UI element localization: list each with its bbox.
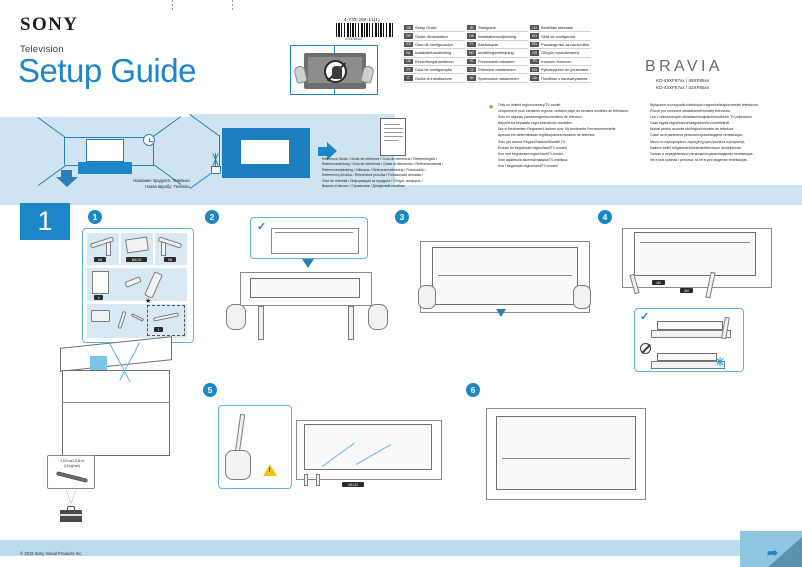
language-row-tr[interactable]: TRKurulum Kılavuzu [530, 58, 591, 66]
torque-spec-bubble: 1.5 N·m/1.5 N·m (15 kgf·cm) [47, 455, 95, 489]
language-column-2: SEStartguideDKInstallationsvejledningFIA… [467, 24, 528, 83]
language-title: Asetusopas [478, 42, 498, 47]
batteries-icon [124, 276, 141, 288]
language-title: Innstillingsveiledning [478, 50, 514, 55]
language-code-badge: DK [467, 33, 476, 38]
language-title: Οδηγός εγκατάστασης [541, 50, 580, 55]
torque-line-2: (15 kgf·cm) [48, 464, 96, 469]
language-code-badge: ES [404, 42, 413, 47]
substep-2-check-panel: ✓ [250, 217, 368, 259]
language-title: Installationsvejledning [478, 34, 516, 39]
footnote-column-left: Only on limited region/country/TV model.… [498, 102, 629, 169]
footnote-right-line-6: Само за ограничени региони/страни/модели… [650, 132, 759, 138]
down-arrow-icon [56, 177, 78, 187]
language-code-badge: RU [530, 67, 539, 72]
substep-5-illustration: M4 L12 [296, 420, 444, 496]
manual-booklet-icon [92, 271, 109, 294]
bravia-logo: BRAVIA [645, 58, 723, 76]
language-row-ru[interactable]: RUРуководство по установке [530, 66, 591, 74]
power-cord-icon [117, 311, 126, 329]
language-index: GBSetup GuideFRGuide d'installationESGuí… [404, 24, 594, 83]
language-title: Guida di installazione [415, 76, 452, 81]
tv-illustration-a [86, 139, 124, 162]
language-code-badge: UA [530, 75, 539, 80]
footer-white-strip [14, 522, 788, 542]
screw-left-5 [304, 474, 308, 486]
tv-face-down-3 [432, 247, 578, 305]
language-row-gr[interactable]: GRΟδηγός εγκατάστασης [530, 49, 591, 57]
tv-on-table [250, 278, 360, 298]
product-name-labels: Название продукта: Телевизор Назва вироб… [100, 178, 192, 191]
substep-2-badge: 2 [205, 210, 219, 224]
language-code-badge: SE [467, 25, 476, 30]
accessory-cell-manual-remote: 4 [87, 268, 187, 301]
crop-mark-left [172, 0, 173, 12]
substep-6-illustration [486, 408, 648, 512]
accessory-cell-cables: 1 [87, 304, 187, 338]
prohibited-icon-4 [640, 343, 651, 354]
footnote-star-icon: ★ [488, 103, 494, 111]
language-code-badge: HU [530, 25, 539, 30]
substep-3-badge: 3 [395, 210, 409, 224]
substep-4-correct-wrong-panel: ✓ ✳ [634, 308, 744, 372]
language-title: Guide d'installation [415, 34, 448, 39]
language-title: Przewodnik ustawień [478, 59, 515, 64]
room-scene-tv-on-stand [38, 117, 181, 185]
language-column-3: HUBeállítási útmutatóROGhid de configura… [530, 24, 591, 83]
hand-right-icon [360, 65, 375, 84]
barcode-icon [336, 23, 394, 37]
language-row-pl[interactable]: PLPrzewodnik ustawień [467, 58, 528, 66]
cable-tie-icon [131, 313, 144, 321]
language-code-badge: GR [530, 50, 539, 55]
tv-rear-panel [634, 232, 756, 276]
language-title: Руководство по установке [541, 67, 588, 72]
table-edge-wrong [651, 361, 725, 369]
language-row-it[interactable]: ITGuida di installazione [404, 74, 465, 82]
tv-screen-illustration [240, 139, 290, 165]
accessory-tag-m4l12: M4 L12 [126, 257, 147, 262]
cable-clamp-icon [153, 312, 179, 321]
language-code-badge: DE [404, 59, 413, 64]
ac-adapter-icon [91, 310, 110, 322]
accessory-cell-screws: M4 L12 [121, 233, 153, 265]
language-row-hu[interactable]: HUBeállítási útmutató [530, 24, 591, 32]
accessory-tag-m4-a: M4 [94, 257, 106, 262]
torque-spec-text: 1.5 N·m/1.5 N·m (15 kgf·cm) [48, 459, 96, 468]
check-icon: ✓ [257, 220, 266, 233]
language-code-badge: FR [404, 33, 413, 38]
next-page-arrow-icon[interactable]: ➦ [767, 545, 778, 561]
language-row-no[interactable]: NOInnstillingsveiledning [467, 49, 528, 57]
language-row-gb[interactable]: GBSetup Guide [404, 24, 465, 32]
footnote-left-line-11: Kun i begrenset region/land/TV-modell. [498, 163, 629, 169]
language-title: Ръководство за настройка [541, 42, 589, 47]
screwdriver-icon [56, 471, 88, 483]
language-row-cz[interactable]: CZPrůvodce nastavením [467, 66, 528, 74]
model-line-1: KD-49XF87xx / 49XF85xx [656, 77, 709, 84]
do-not-touch-screen-illustration [290, 45, 378, 95]
substep-5-screwdriver-panel [218, 405, 292, 489]
language-code-badge: PL [467, 59, 476, 64]
language-title: Kurulum Kılavuzu [541, 59, 572, 64]
barcode-number: 4733266111 [345, 37, 362, 41]
accessory-tag-m4-b: M4 [164, 257, 176, 262]
substep-6-badge: 6 [466, 383, 480, 397]
footnote-right-line-7: Μόνο σε περιορισμένες περιοχές/χώρες/μον… [650, 139, 759, 145]
screw-right-5 [316, 474, 320, 486]
stand-foot-part-2 [161, 242, 166, 256]
accessory-cell-stand-left: M4 [87, 233, 119, 265]
substep-2-table-illustration [222, 268, 392, 346]
language-title: Guía de configuración [415, 42, 453, 47]
language-row-ua[interactable]: UAПосібник з налаштування [530, 74, 591, 82]
sony-logo: SONY [20, 14, 78, 36]
tv-front-6 [496, 416, 636, 490]
hand-support-right [573, 285, 591, 309]
bubble-tail [66, 489, 76, 503]
crop-mark-right [232, 0, 233, 12]
language-row-dk[interactable]: DKInstallationsvejledning [467, 32, 528, 40]
language-code-badge: NO [467, 50, 476, 55]
footnote-column-right: Wyłącznie w przypadku niektórych regionó… [650, 102, 759, 163]
language-title: Einrichtungshandbuch [415, 59, 454, 64]
language-code-badge: PT [404, 67, 413, 72]
footer-white-gap [0, 556, 740, 567]
language-code-badge: BG [530, 42, 539, 47]
language-title: Beállítási útmutató [541, 25, 573, 30]
language-code-badge: CZ [467, 67, 476, 72]
optional-star-icon: ★ [145, 297, 151, 305]
language-row-nl[interactable]: NLInstallatiehandleiding [404, 49, 465, 57]
language-row-ro[interactable]: ROGhid de configurare [530, 32, 591, 40]
language-column-1: GBSetup GuideFRGuide d'installationESGuí… [404, 24, 465, 83]
optional-accessory-box: 1 [147, 305, 185, 336]
table-edge-correct [651, 330, 731, 338]
substep-4-illustration: M4 M4 [622, 220, 774, 306]
language-code-badge: RO [530, 33, 539, 38]
accessory-cell-stand-right: M4 [155, 233, 187, 265]
substep-3-illustration [418, 225, 593, 345]
hand-right-grip [368, 304, 388, 330]
sony-wordmark: SONY [20, 14, 78, 35]
down-arrow-substep-2 [302, 259, 314, 268]
language-row-se[interactable]: SEStartguide [467, 24, 528, 32]
table-leg-right [348, 306, 354, 340]
language-title: Посібник з налаштування [541, 76, 587, 81]
substep-4-badge: 4 [598, 210, 612, 224]
language-row-fi[interactable]: FIAsetusopas [467, 41, 528, 49]
footnote-right-line-10: Не в усіх країнах і регіонах та не в усі… [650, 157, 759, 163]
product-name-ua: Назва виробу: Телевізор [100, 184, 192, 190]
remote-control-icon [144, 271, 163, 298]
language-code-badge: SK [467, 75, 476, 80]
language-title: Průvodce nastavením [478, 67, 516, 72]
language-row-pt[interactable]: PTGuia de configuração [404, 66, 465, 74]
fastener-tag-step5: M4 L12 [342, 482, 364, 487]
accessories-panel: M4 M4 L12 M4 4 1 ★ [82, 228, 194, 343]
fastener-tag-step4-right: M4 [680, 288, 693, 293]
section-number-1: 1 [20, 203, 70, 240]
model-line-2: KD-43XF87xx / 43XF85xx [656, 84, 709, 91]
rotate-arrow-3 [496, 309, 506, 317]
correct-placement-illustration [657, 321, 723, 330]
reference-guide-line-6: Başvuru Kılavuzu / Справочник / Довідков… [322, 184, 443, 189]
screw-bag [125, 237, 149, 254]
language-code-badge: NL [404, 50, 413, 55]
setup-guide-page: SONY Television Setup Guide 4-733-266-11… [0, 0, 802, 567]
no-touch-icon [324, 60, 347, 83]
impact-burst-icon: ✳ [715, 355, 725, 369]
substep-5-badge: 5 [203, 383, 217, 397]
hand-support-left [418, 285, 436, 309]
clock-icon [143, 134, 155, 146]
language-title: Startguide [478, 25, 496, 30]
page-turn-corner: ➦ [740, 531, 802, 567]
language-row-de[interactable]: DEEinrichtungshandbuch [404, 58, 465, 66]
language-row-bg[interactable]: BGРъководство за настройка [530, 41, 591, 49]
hand-holding-screwdriver [225, 450, 251, 480]
check-icon-4: ✓ [640, 310, 649, 323]
language-row-es[interactable]: ESGuía de configuración [404, 41, 465, 49]
accessory-tag-qty-1: 1 [154, 327, 163, 332]
language-code-badge: TR [530, 59, 539, 64]
hand-left-grip [226, 304, 246, 330]
tv-rear-5 [304, 424, 432, 470]
language-code-badge: IT [404, 75, 413, 80]
table-leg-left [258, 306, 264, 340]
wrong-placement-illustration [657, 353, 717, 361]
model-numbers: KD-49XF87xx / 49XF85xx KD-43XF87xx / 43X… [656, 77, 709, 91]
language-code-badge: FI [467, 42, 476, 47]
language-title: Ghid de configurare [541, 34, 575, 39]
caution-triangle-icon [263, 464, 277, 476]
language-row-sk[interactable]: SKSprievodca nastavením [467, 74, 528, 82]
reference-guide-languages: Reference Guide / Guide de référence / G… [322, 157, 443, 189]
tv-stand-illustration [78, 162, 132, 174]
substep-1-badge: 1 [88, 210, 102, 224]
language-title: Setup Guide [415, 25, 437, 30]
toolbox-icon [60, 506, 82, 523]
language-code-badge: GB [404, 25, 413, 30]
document-number: 4-733-266-11(1) [344, 17, 380, 22]
language-title: Sprievodca nastavením [478, 76, 519, 81]
language-title: Installatiehandleiding [415, 50, 451, 55]
reference-guide-booklet-icon [380, 118, 406, 156]
language-row-fr[interactable]: FRGuide d'installation [404, 32, 465, 40]
accessory-tag-qty-4: 4 [94, 295, 103, 300]
fastener-tag-step4-left: M4 [652, 280, 665, 285]
page-title: Setup Guide [18, 52, 196, 90]
footnote-right-line-9: Только в определенных регионах/странах/м… [650, 151, 759, 157]
plant-icon [210, 152, 222, 174]
language-title: Guia de configuração [415, 67, 452, 72]
stand-foot-part [106, 242, 111, 256]
carton-box [62, 370, 170, 456]
